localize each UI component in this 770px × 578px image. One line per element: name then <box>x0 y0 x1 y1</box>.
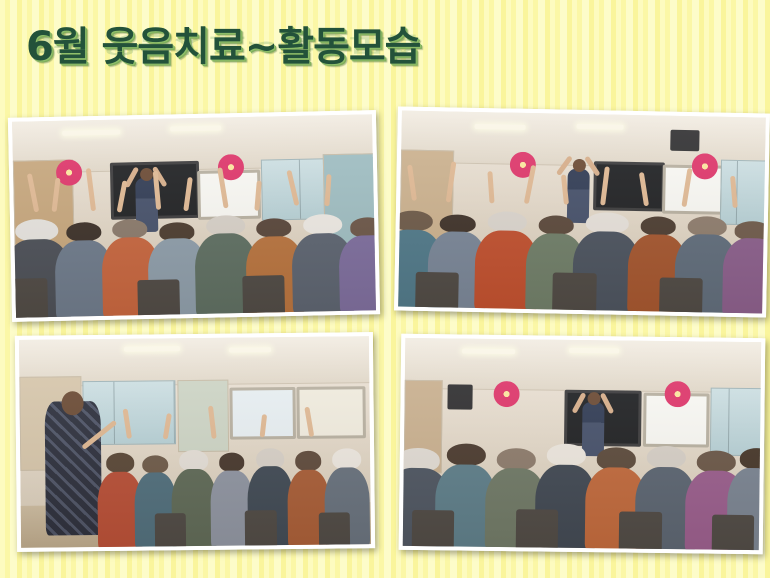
ceiling-light <box>576 124 623 130</box>
chair <box>619 511 662 550</box>
person-head <box>538 215 574 235</box>
photo-bottom-right[interactable] <box>399 334 766 554</box>
person-head <box>735 221 766 240</box>
room-scene <box>12 114 376 317</box>
speaker <box>671 129 701 151</box>
photo-bottom-right-image <box>403 338 762 550</box>
chair <box>659 278 703 314</box>
speaker <box>447 384 472 409</box>
ceiling-light <box>171 125 221 131</box>
flower-decoration-icon <box>664 381 690 407</box>
person-head <box>647 446 686 469</box>
person-head <box>447 443 486 466</box>
audience-crowd <box>403 425 762 550</box>
photo-top-left[interactable] <box>8 110 380 322</box>
person-head <box>106 453 135 473</box>
person-head <box>697 450 736 473</box>
slide-canvas: 6월 웃음치료~활동모습 6월 웃음치료~활동모습 <box>0 0 770 578</box>
audience-crowd <box>398 196 766 313</box>
chair <box>553 272 597 313</box>
person-head <box>547 443 586 466</box>
chair <box>12 278 48 318</box>
chair <box>137 280 181 318</box>
room-scene <box>19 336 371 548</box>
chair <box>245 510 277 548</box>
audience-crowd <box>12 200 376 318</box>
person-head <box>142 455 168 474</box>
chair <box>415 272 459 311</box>
page-title: 6월 웃음치료~활동모습 <box>26 14 420 72</box>
person-head <box>256 218 291 238</box>
person-head <box>487 211 527 232</box>
photo-bottom-left[interactable] <box>15 332 375 552</box>
photo-top-left-image <box>12 114 376 317</box>
ceiling-light <box>124 346 180 352</box>
person-head <box>332 448 361 469</box>
person-head <box>641 216 677 236</box>
person-body <box>338 235 376 315</box>
chair <box>711 515 754 550</box>
ceiling-light <box>569 348 619 354</box>
photo-top-right-image <box>398 111 766 314</box>
audience-crowd <box>97 432 371 548</box>
person-body <box>722 238 766 313</box>
chair <box>319 512 351 547</box>
flower-decoration-icon <box>493 381 519 407</box>
person-head <box>179 450 208 471</box>
person-head <box>66 222 101 242</box>
photo-top-right[interactable] <box>394 106 770 317</box>
person-head <box>398 210 432 231</box>
chair <box>242 275 286 317</box>
room-scene <box>398 111 766 314</box>
ceiling-light <box>474 124 525 130</box>
person-head <box>440 215 476 234</box>
person-head <box>350 217 376 237</box>
person-head <box>303 214 342 235</box>
chair <box>412 510 455 550</box>
ceiling-light <box>229 348 271 353</box>
chair <box>154 513 186 548</box>
person-head <box>296 451 322 471</box>
person-head <box>219 453 245 472</box>
instructor-head <box>61 391 83 415</box>
person-head <box>739 448 761 470</box>
room-scene <box>403 338 762 550</box>
person-head <box>497 448 536 471</box>
chair <box>515 509 558 550</box>
person-head <box>112 219 147 239</box>
photo-bottom-left-image <box>19 336 371 548</box>
instructor-figure <box>44 401 101 535</box>
